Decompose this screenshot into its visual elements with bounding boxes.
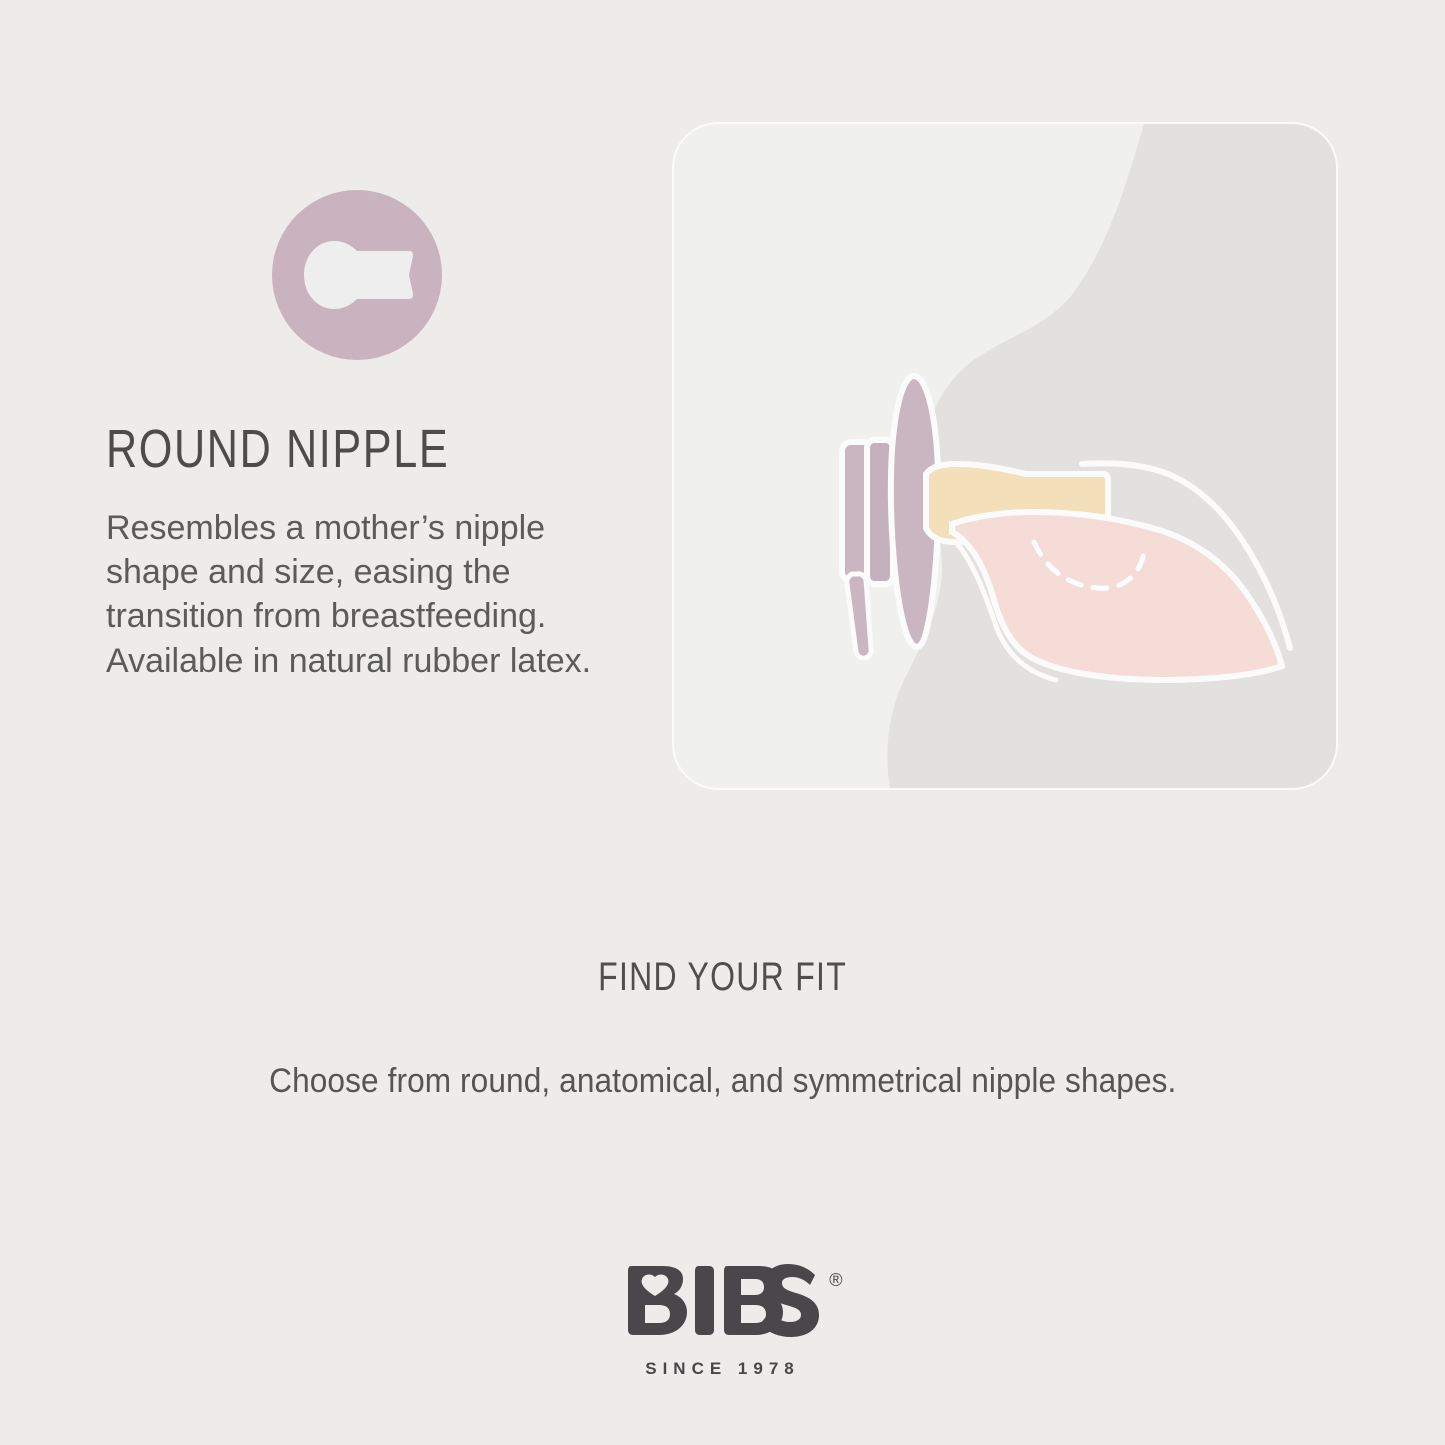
fit-subtitle: Choose from round, anatomical, and symme… xyxy=(269,1062,1176,1101)
bibs-wordmark-icon xyxy=(625,1262,821,1338)
fit-heading: FIND YOUR FIT xyxy=(598,955,847,1000)
round-nipple-shape-icon xyxy=(272,190,442,360)
page-title: ROUND NIPPLE xyxy=(106,422,522,476)
registered-trademark-icon: ® xyxy=(829,1270,842,1291)
fit-subtitle-wrap: Choose from round, anatomical, and symme… xyxy=(0,1000,1445,1101)
find-your-fit-section: FIND YOUR FIT Choose from round, anatomi… xyxy=(0,955,1445,1101)
head-silhouette xyxy=(887,124,1336,788)
illustration-panel xyxy=(672,122,1338,790)
pacifier-handle-stem xyxy=(847,574,871,658)
round-nipple-badge xyxy=(272,190,442,360)
round-nipple-feature-block: ROUND NIPPLE Resembles a mother’s nipple… xyxy=(106,190,626,683)
brand-tagline: SINCE 1978 xyxy=(0,1359,1445,1379)
feature-description: Resembles a mother’s nipple shape and si… xyxy=(106,506,616,683)
brand-logo: ® SINCE 1978 xyxy=(0,1262,1445,1379)
fit-heading-wrap: FIND YOUR FIT xyxy=(0,955,1445,1000)
baby-mouth-pacifier-cross-section-illustration xyxy=(674,124,1336,788)
brand-wordmark-wrap: ® xyxy=(625,1262,821,1343)
